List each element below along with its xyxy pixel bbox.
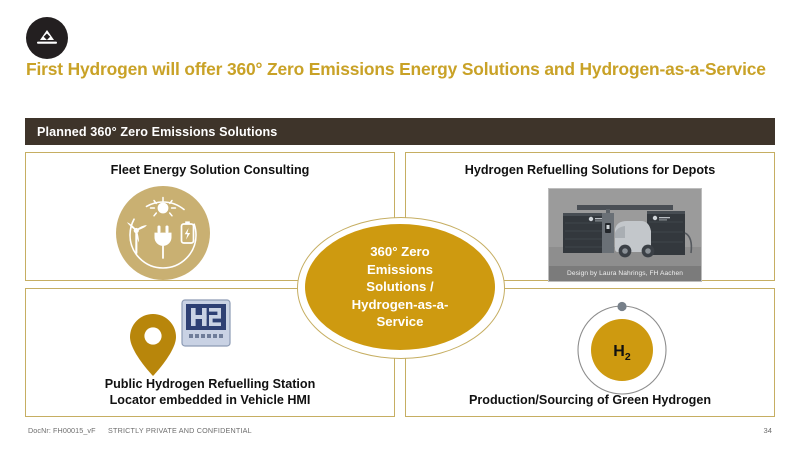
- refuelling-depot-render-image: Design by Laura Nahrings, FH Aachen: [548, 188, 702, 282]
- logo-circle: [26, 17, 68, 59]
- h2-station-sign-icon: [180, 298, 232, 348]
- document-number: DocNr: FH00015_vF: [28, 426, 96, 435]
- section-header-label: Planned 360° Zero Emissions Solutions: [25, 125, 277, 139]
- hydrogen-atom-icon: H2: [570, 300, 674, 400]
- logo-mark-icon: [32, 23, 62, 53]
- slide-footer: DocNr: FH00015_vF STRICTLY PRIVATE AND C…: [0, 426, 800, 440]
- confidentiality-notice: STRICTLY PRIVATE AND CONFIDENTIAL: [108, 426, 252, 435]
- section-header-band: Planned 360° Zero Emissions Solutions: [25, 118, 775, 145]
- renewable-energy-plug-icon: [116, 186, 210, 280]
- first-hydrogen-logo: [26, 17, 68, 59]
- page-title: First Hydrogen will offer 360° Zero Emis…: [26, 58, 774, 80]
- page-number: 34: [764, 426, 772, 435]
- image-caption: Design by Laura Nahrings, FH Aachen: [549, 266, 701, 281]
- center-oval-badge: 360° Zero Emissions Solutions / Hydrogen…: [305, 224, 495, 350]
- quadrant-title-refuelling-depots: Hydrogen Refuelling Solutions for Depots: [406, 163, 774, 178]
- center-oval-label: 360° Zero Emissions Solutions / Hydrogen…: [352, 243, 449, 330]
- quadrant-title-fleet-energy: Fleet Energy Solution Consulting: [26, 163, 394, 178]
- map-pin-icon: [128, 312, 178, 378]
- quadrant-title-station-locator: Public Hydrogen Refuelling Station Locat…: [26, 377, 394, 408]
